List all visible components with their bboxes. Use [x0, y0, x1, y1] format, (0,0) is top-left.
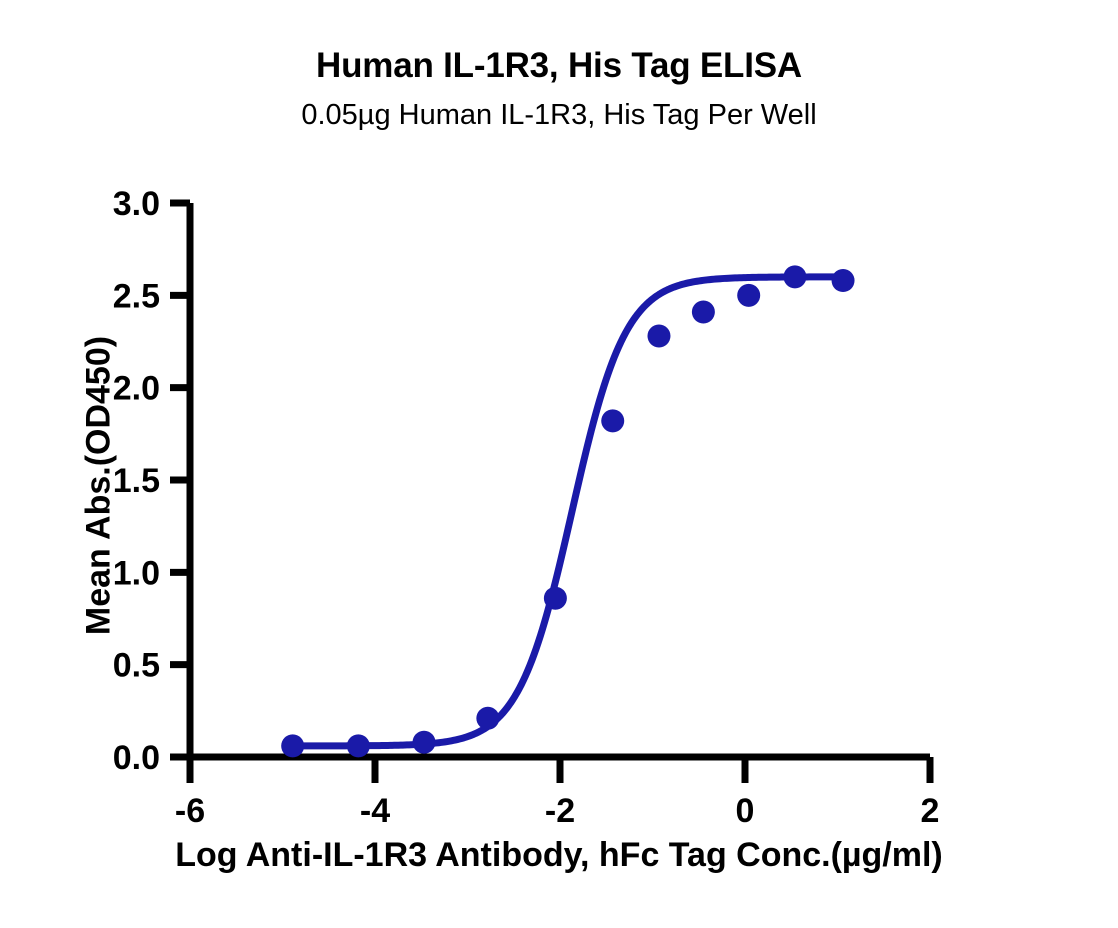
- data-point: [476, 707, 499, 730]
- sigmoid-fit-curve: [293, 277, 843, 746]
- elisa-chart-figure: Human IL-1R3, His Tag ELISA 0.05µg Human…: [0, 0, 1118, 928]
- data-point: [783, 265, 806, 288]
- data-point: [737, 284, 760, 307]
- plot-area: 0.00.51.01.52.02.53.0 -6-4-202: [0, 0, 1118, 928]
- x-tick-label: 2: [921, 792, 940, 830]
- x-tick-label: -6: [175, 792, 205, 830]
- x-tick-label: -4: [360, 792, 390, 830]
- x-axis-ticks: -6-4-202: [175, 757, 940, 830]
- x-tick-label: -2: [545, 792, 575, 830]
- data-point: [601, 409, 624, 432]
- data-point-markers: [281, 265, 854, 757]
- data-point: [692, 300, 715, 323]
- y-tick-label: 1.0: [113, 554, 160, 592]
- data-point: [413, 731, 436, 754]
- data-point: [347, 734, 370, 757]
- y-tick-label: 1.5: [113, 462, 160, 500]
- y-tick-label: 0.5: [113, 647, 160, 685]
- y-tick-label: 3.0: [113, 185, 160, 223]
- data-point: [544, 587, 567, 610]
- y-tick-label: 0.0: [113, 739, 160, 777]
- data-point: [647, 324, 670, 347]
- y-axis-ticks: 0.00.51.01.52.02.53.0: [113, 185, 190, 777]
- x-tick-label: 0: [736, 792, 755, 830]
- y-tick-label: 2.5: [113, 277, 160, 315]
- data-point: [832, 269, 855, 292]
- data-point: [281, 734, 304, 757]
- y-tick-label: 2.0: [113, 370, 160, 408]
